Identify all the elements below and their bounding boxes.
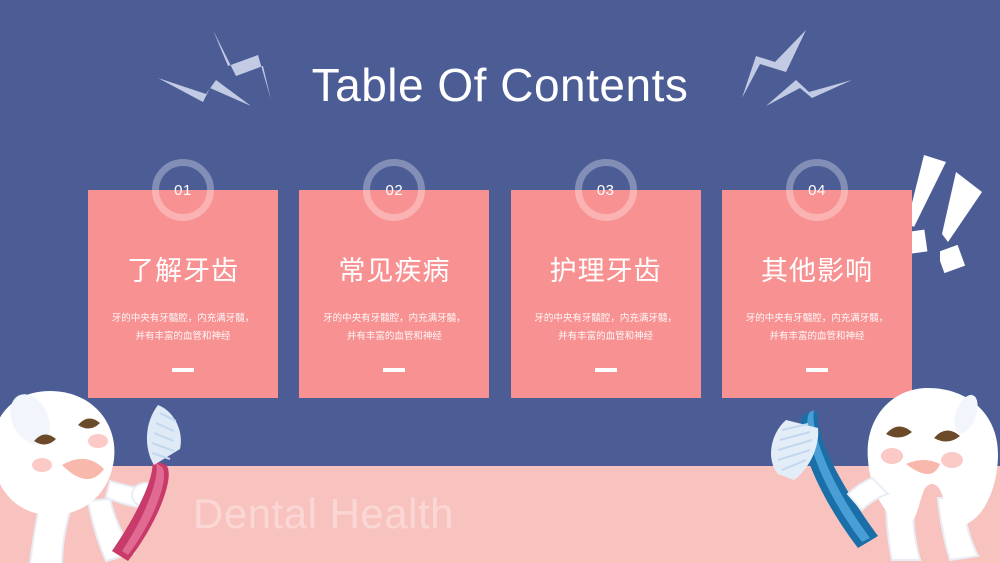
card-description: 牙的中央有牙髓腔，内充满牙髓， 并有丰富的血管和神经: [728, 310, 906, 345]
card-title: 其他影响: [722, 258, 912, 285]
card-title: 护理牙齿: [511, 258, 701, 285]
card-description-line-2: 并有丰富的血管和神经: [517, 328, 695, 346]
exclamation-mark-icon-2: [940, 172, 1000, 282]
card-divider-dash: [806, 368, 828, 372]
tooth-character-with-pink-toothbrush-icon: [0, 383, 218, 563]
card-description-line-2: 并有丰富的血管和神经: [94, 328, 272, 346]
tooth-character-with-blue-toothbrush-icon: [752, 378, 1000, 563]
card-description: 牙的中央有牙髓腔，内充满牙髓， 并有丰富的血管和神经: [305, 310, 483, 345]
card-description-line-1: 牙的中央有牙髓腔，内充满牙髓，: [728, 310, 906, 328]
card-divider-dash: [383, 368, 405, 372]
card-number-label: 01: [174, 183, 192, 198]
toc-card-4[interactable]: 04 其他影响 牙的中央有牙髓腔，内充满牙髓， 并有丰富的血管和神经: [722, 190, 912, 398]
card-number-label: 02: [385, 183, 403, 198]
toc-card-3[interactable]: 03 护理牙齿 牙的中央有牙髓腔，内充满牙髓， 并有丰富的血管和神经: [511, 190, 701, 398]
card-description-line-2: 并有丰富的血管和神经: [305, 328, 483, 346]
page-title: Table Of Contents: [0, 62, 1000, 108]
card-number-badge: 03: [575, 159, 637, 221]
card-description-line-1: 牙的中央有牙髓腔，内充满牙髓，: [517, 310, 695, 328]
card-divider-dash: [172, 368, 194, 372]
contents-cards-row: 01 了解牙齿 牙的中央有牙髓腔，内充满牙髓， 并有丰富的血管和神经 02 常见…: [88, 190, 912, 398]
card-description: 牙的中央有牙髓腔，内充满牙髓， 并有丰富的血管和神经: [517, 310, 695, 345]
slide-canvas: Table Of Contents 01 了解牙齿 牙的中央有牙髓腔，内充满牙髓…: [0, 0, 1000, 563]
card-number-badge: 02: [363, 159, 425, 221]
card-number-label: 03: [597, 183, 615, 198]
toc-card-1[interactable]: 01 了解牙齿 牙的中央有牙髓腔，内充满牙髓， 并有丰富的血管和神经: [88, 190, 278, 398]
watermark-text: Dental Health: [193, 493, 454, 535]
card-description-line-1: 牙的中央有牙髓腔，内充满牙髓，: [94, 310, 272, 328]
card-number-badge: 04: [786, 159, 848, 221]
card-number-label: 04: [808, 183, 826, 198]
card-description: 牙的中央有牙髓腔，内充满牙髓， 并有丰富的血管和神经: [94, 310, 272, 345]
card-number-badge: 01: [152, 159, 214, 221]
toc-card-2[interactable]: 02 常见疾病 牙的中央有牙髓腔，内充满牙髓， 并有丰富的血管和神经: [299, 190, 489, 398]
card-description-line-2: 并有丰富的血管和神经: [728, 328, 906, 346]
card-title: 了解牙齿: [88, 258, 278, 285]
card-divider-dash: [595, 368, 617, 372]
card-description-line-1: 牙的中央有牙髓腔，内充满牙髓，: [305, 310, 483, 328]
card-title: 常见疾病: [299, 258, 489, 285]
